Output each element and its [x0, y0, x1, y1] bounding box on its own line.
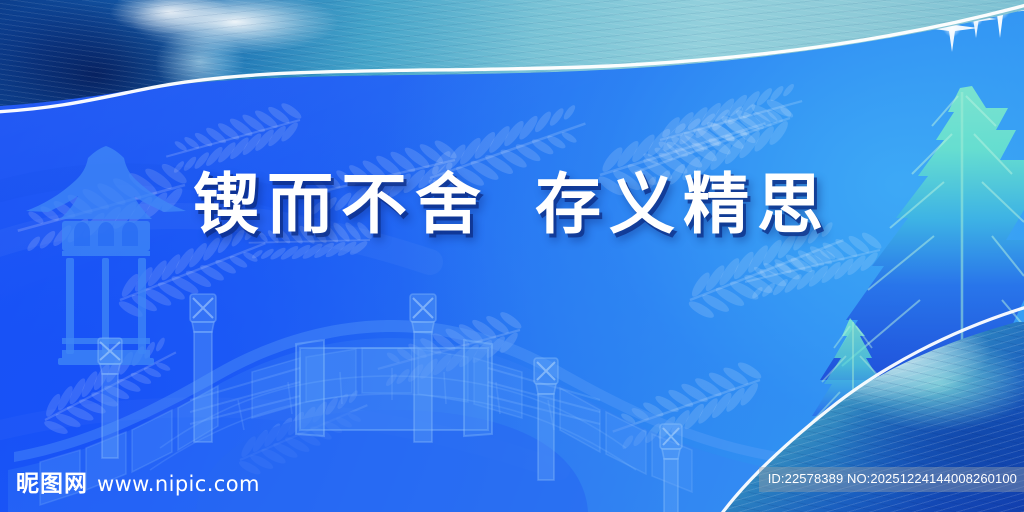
ocean-wave-photo-top — [0, 0, 1024, 108]
image-id-text: ID:22578389 NO:20251224144008260100 — [768, 471, 1017, 486]
title-phrase-2: 存义精思 — [535, 172, 831, 238]
watermark-brand: 昵图网 — [16, 464, 88, 498]
watermark: 昵图网 www.nipic.com — [16, 464, 260, 498]
watermark-url: www.nipic.com — [97, 472, 260, 496]
wave-top-mask — [0, 0, 1024, 108]
poster-title: 锲而不舍 存义精思 — [0, 172, 1024, 238]
poster-canvas: 锲而不舍 存义精思 昵图网 www.nipic.com ID:22578389 … — [0, 0, 1024, 512]
title-phrase-1: 锲而不舍 — [193, 172, 489, 238]
image-id-bar: ID:22578389 NO:20251224144008260100 — [759, 467, 1024, 492]
